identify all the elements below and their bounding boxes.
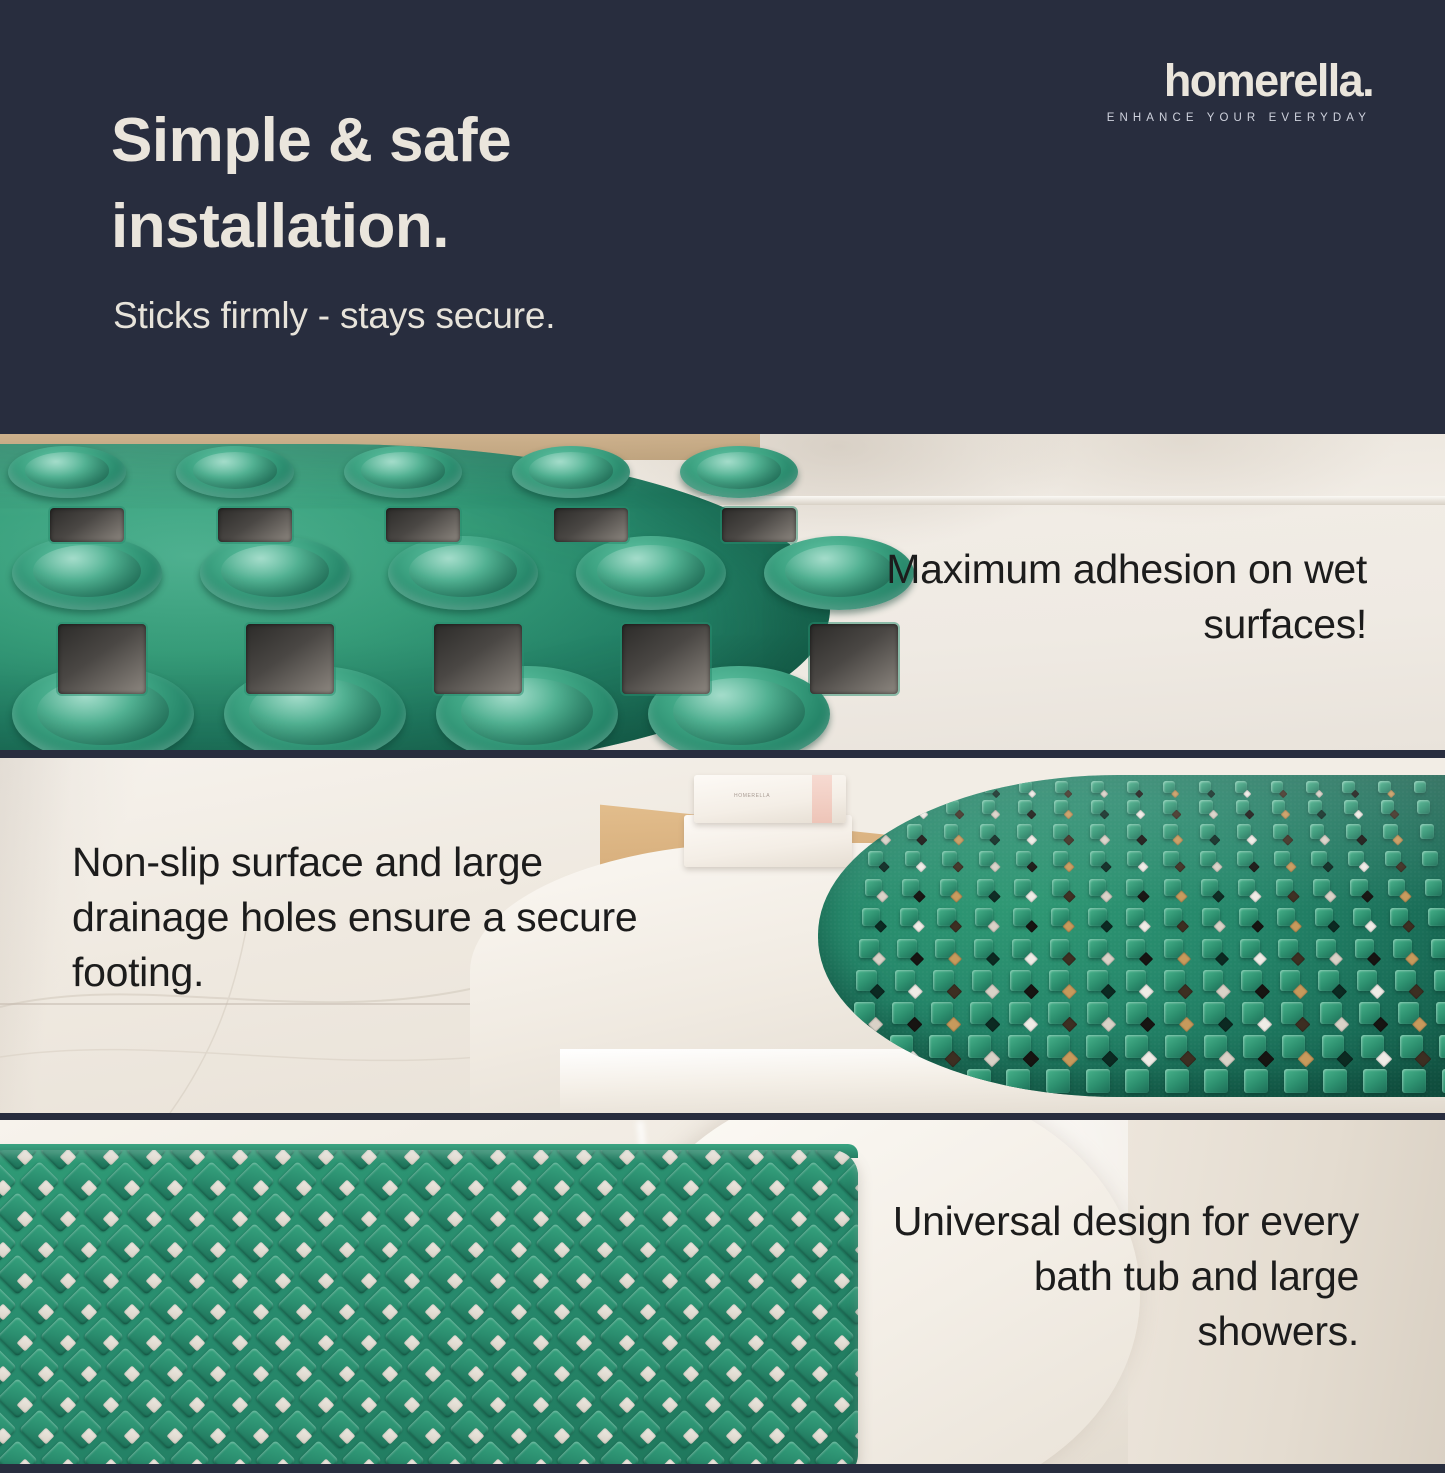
raised-stud bbox=[848, 1069, 872, 1093]
panel-caption: Non-slip surface and large drainage hole… bbox=[72, 835, 672, 1000]
suction-cup bbox=[8, 446, 126, 498]
logo-wordmark: homerella. bbox=[1107, 58, 1373, 103]
rolled-mat-image bbox=[818, 775, 1445, 1097]
raised-stud bbox=[1204, 1069, 1228, 1093]
raised-stud bbox=[927, 1069, 951, 1093]
mat-gloss bbox=[818, 775, 1445, 910]
raised-stud bbox=[1436, 1002, 1445, 1024]
drain-hole bbox=[554, 508, 628, 542]
header-banner: Simple & safe installation. Sticks firml… bbox=[0, 0, 1445, 434]
drain-hole bbox=[622, 624, 710, 694]
panel-divider bbox=[0, 1113, 1445, 1120]
suction-cup bbox=[176, 446, 294, 498]
raised-stud bbox=[1006, 1069, 1030, 1093]
raised-stud bbox=[1439, 1035, 1445, 1058]
panel-caption: Maximum adhesion on wet surfaces! bbox=[807, 542, 1367, 651]
raised-stud bbox=[888, 1069, 912, 1093]
mat-underside-image bbox=[0, 444, 830, 750]
suction-cup bbox=[388, 536, 538, 610]
raised-stud bbox=[1363, 1069, 1387, 1093]
raised-stud bbox=[1434, 970, 1445, 991]
suction-cup bbox=[512, 446, 630, 498]
suction-cup bbox=[344, 446, 462, 498]
drain-hole bbox=[50, 508, 124, 542]
drain-hole bbox=[434, 624, 522, 694]
soap-label: HOMERELLA bbox=[734, 793, 770, 799]
mat-rim-shadow bbox=[0, 1150, 858, 1466]
suction-cup bbox=[680, 446, 798, 498]
panel-adhesion: Maximum adhesion on wet surfaces! bbox=[0, 434, 1445, 750]
raised-stud bbox=[1431, 939, 1445, 958]
drain-hole bbox=[386, 508, 460, 542]
raised-stud bbox=[967, 1069, 991, 1093]
raised-stud bbox=[1086, 1069, 1110, 1093]
panel-divider bbox=[0, 750, 1445, 758]
drain-hole bbox=[58, 624, 146, 694]
suction-cup bbox=[576, 536, 726, 610]
raised-stud bbox=[1284, 1069, 1308, 1093]
drain-hole bbox=[246, 624, 334, 694]
raised-stud bbox=[1428, 908, 1445, 926]
product-infographic: Simple & safe installation. Sticks firml… bbox=[0, 0, 1445, 1473]
raised-stud bbox=[1165, 1069, 1189, 1093]
logo-tagline: ENHANCE YOUR EVERYDAY bbox=[1107, 112, 1371, 124]
raised-stud bbox=[1046, 1069, 1070, 1093]
raised-stud bbox=[1244, 1069, 1268, 1093]
page-title: Simple & safe installation. bbox=[111, 98, 811, 269]
panel-nonslip: HOMERELLA Non-slip surface and large dra… bbox=[0, 757, 1445, 1113]
suction-cup bbox=[200, 536, 350, 610]
drain-hole bbox=[218, 508, 292, 542]
panel-universal: Universal design for every bath tub and … bbox=[0, 1120, 1445, 1466]
raised-stud bbox=[1125, 1069, 1149, 1093]
shelf-edge bbox=[700, 496, 1445, 505]
page-subtitle: Sticks firmly - stays secure. bbox=[113, 295, 913, 337]
drain-hole bbox=[722, 508, 796, 542]
raised-stud bbox=[1402, 1069, 1426, 1093]
bottom-border bbox=[0, 1464, 1445, 1473]
suction-cup bbox=[12, 536, 162, 610]
panel-caption: Universal design for every bath tub and … bbox=[879, 1194, 1359, 1359]
brand-logo: homerella. ENHANCE YOUR EVERYDAY bbox=[1107, 58, 1373, 124]
flat-mat-image bbox=[0, 1150, 858, 1466]
raised-stud bbox=[1323, 1069, 1347, 1093]
